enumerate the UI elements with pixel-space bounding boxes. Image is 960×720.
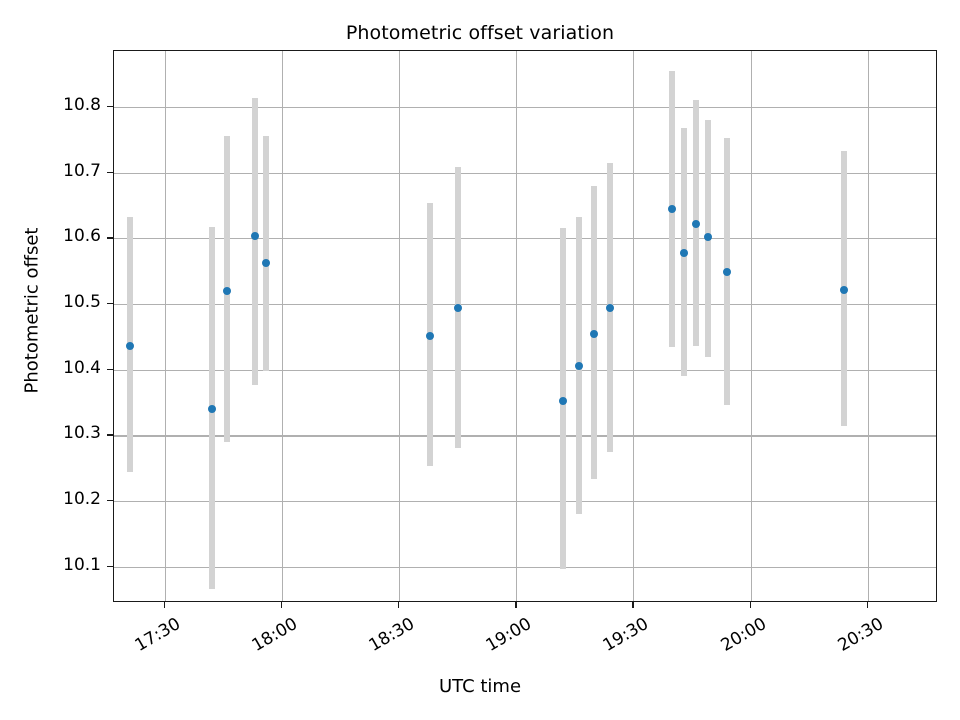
y-axis-label: Photometric offset [22,101,43,521]
y-tick-mark [107,369,113,370]
datapoint [208,405,216,413]
x-tick-mark [164,602,165,608]
datapoint [692,220,700,228]
y-tick-label: 10.6 [1,226,101,246]
datapoint [590,330,598,338]
y-tick-mark [107,303,113,304]
x-tick-mark [398,602,399,608]
x-tick-mark [281,602,282,608]
gridline-vertical [165,51,166,601]
datapoint [606,304,614,312]
figure-canvas: Photometric offset variation 10.810.710.… [0,0,960,720]
gridline-horizontal [114,567,936,568]
gridline-vertical [282,51,283,601]
y-tick-label: 10.7 [1,161,101,181]
datapoint [840,286,848,294]
y-tick-mark [107,500,113,501]
gridline-horizontal [114,173,936,174]
datapoint [126,342,134,350]
gridline-horizontal [114,304,936,305]
x-tick-mark [750,602,751,608]
errorbar [263,136,269,371]
datapoint [454,304,462,312]
errorbar [252,98,258,385]
y-tick-label: 10.5 [1,292,101,312]
chart-title: Photometric offset variation [0,22,960,44]
gridline-horizontal [114,107,936,108]
gridline-horizontal [114,501,936,502]
gridline-vertical [633,51,634,601]
y-tick-mark [107,566,113,567]
gridline-vertical [516,51,517,601]
y-tick-label: 10.8 [1,95,101,115]
datapoint [704,233,712,241]
x-tick-mark [867,602,868,608]
plot-area [113,50,937,602]
y-tick-mark [107,106,113,107]
gridline-horizontal [114,370,936,371]
x-tick-mark [515,602,516,608]
datapoint [251,232,259,240]
datapoint [680,249,688,257]
y-tick-label: 10.2 [1,489,101,509]
gridline-horizontal [114,238,936,239]
gridline-horizontal [114,435,936,436]
y-tick-mark [107,172,113,173]
y-tick-label: 10.1 [1,555,101,575]
y-tick-mark [107,434,113,435]
y-tick-label: 10.4 [1,358,101,378]
y-tick-mark [107,237,113,238]
y-tick-label: 10.3 [1,423,101,443]
datapoint [426,332,434,340]
x-axis-label: UTC time [0,676,960,697]
x-tick-mark [632,602,633,608]
gridline-vertical [399,51,400,601]
gridline-vertical [868,51,869,601]
gridline-vertical [751,51,752,601]
